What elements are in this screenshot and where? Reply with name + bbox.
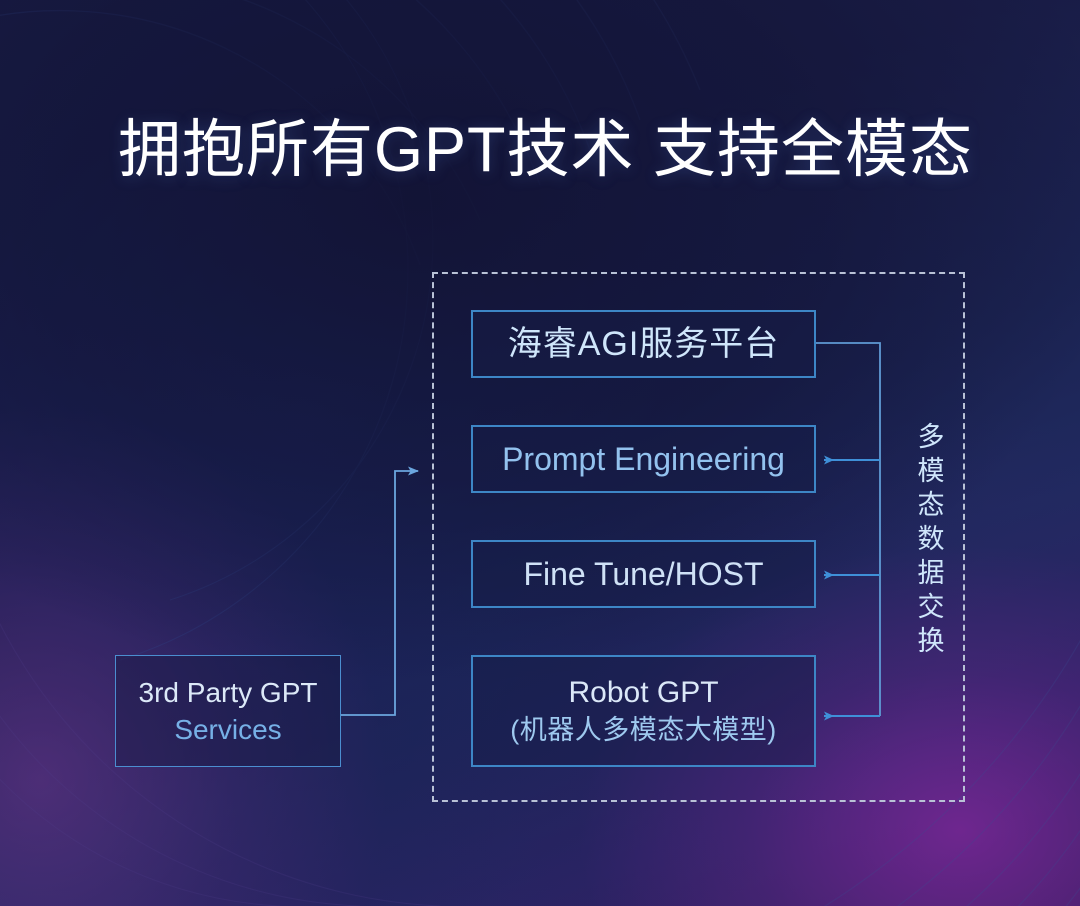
box-fine-tune-host-label: Fine Tune/HOST [523,554,763,594]
box-fine-tune-host[interactable]: Fine Tune/HOST [471,540,816,608]
box-agi-platform-label: 海睿AGI服务平台 [508,323,780,365]
box-prompt-engineering[interactable]: Prompt Engineering [471,425,816,493]
box-agi-platform[interactable]: 海睿AGI服务平台 [471,310,816,378]
box-third-party-line2: Services [174,711,281,748]
page-title: 拥抱所有GPT技术 支持全模态 [118,112,973,188]
box-robot-gpt-sublabel: (机器人多模态大模型) [510,712,776,748]
box-third-party-line1: 3rd Party GPT [139,674,318,711]
vertical-label-multimodal-exchange: 多模态数据交换 [912,420,952,658]
box-third-party-gpt-services[interactable]: 3rd Party GPT Services [115,655,341,767]
box-robot-gpt-label: Robot GPT [568,674,718,712]
box-prompt-engineering-label: Prompt Engineering [502,439,785,479]
box-robot-gpt[interactable]: Robot GPT (机器人多模态大模型) [471,655,816,767]
slide-canvas: 拥抱所有GPT技术 支持全模态 海睿AGI服务平台 [0,0,1080,906]
